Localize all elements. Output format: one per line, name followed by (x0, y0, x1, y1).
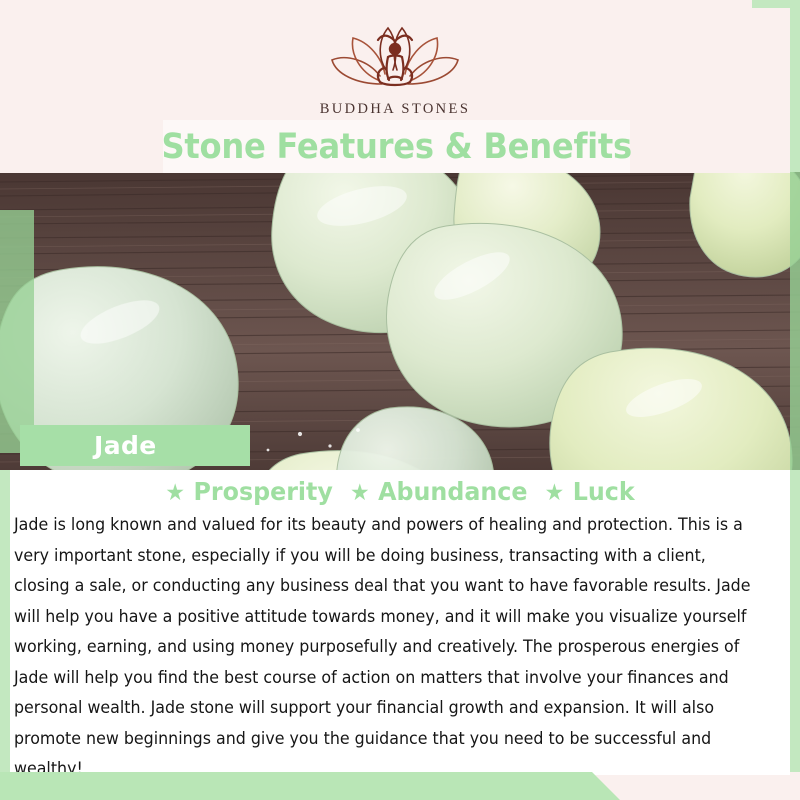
stone-name-label: Jade (94, 431, 157, 460)
benefit-item-2: Luck (573, 477, 635, 506)
star-icon: ★ (165, 480, 185, 506)
stone-info-card: BUDDHA STONES Stone Features & Benefits (0, 0, 800, 800)
lotus-meditation-icon (320, 22, 470, 96)
title-banner: Stone Features & Benefits (163, 120, 630, 173)
brand-name: BUDDHA STONES (320, 101, 471, 118)
brand-logo: BUDDHA STONES (0, 22, 790, 118)
stone-name-band: Jade (20, 425, 250, 466)
photo-right-accent-bar (790, 172, 800, 470)
star-icon: ★ (350, 480, 370, 506)
page-title: Stone Features & Benefits (161, 127, 631, 167)
description-panel: ★Prosperity★Abundance★Luck Jade is long … (10, 470, 790, 775)
benefit-item-0: Prosperity (194, 477, 333, 506)
bottom-accent-band (0, 772, 620, 800)
star-icon: ★ (545, 480, 565, 506)
benefits-list: ★Prosperity★Abundance★Luck (30, 477, 771, 506)
photo-left-accent-bar (0, 210, 34, 453)
description-text: Jade is long known and valued for its be… (14, 510, 753, 785)
benefit-item-1: Abundance (378, 477, 527, 506)
